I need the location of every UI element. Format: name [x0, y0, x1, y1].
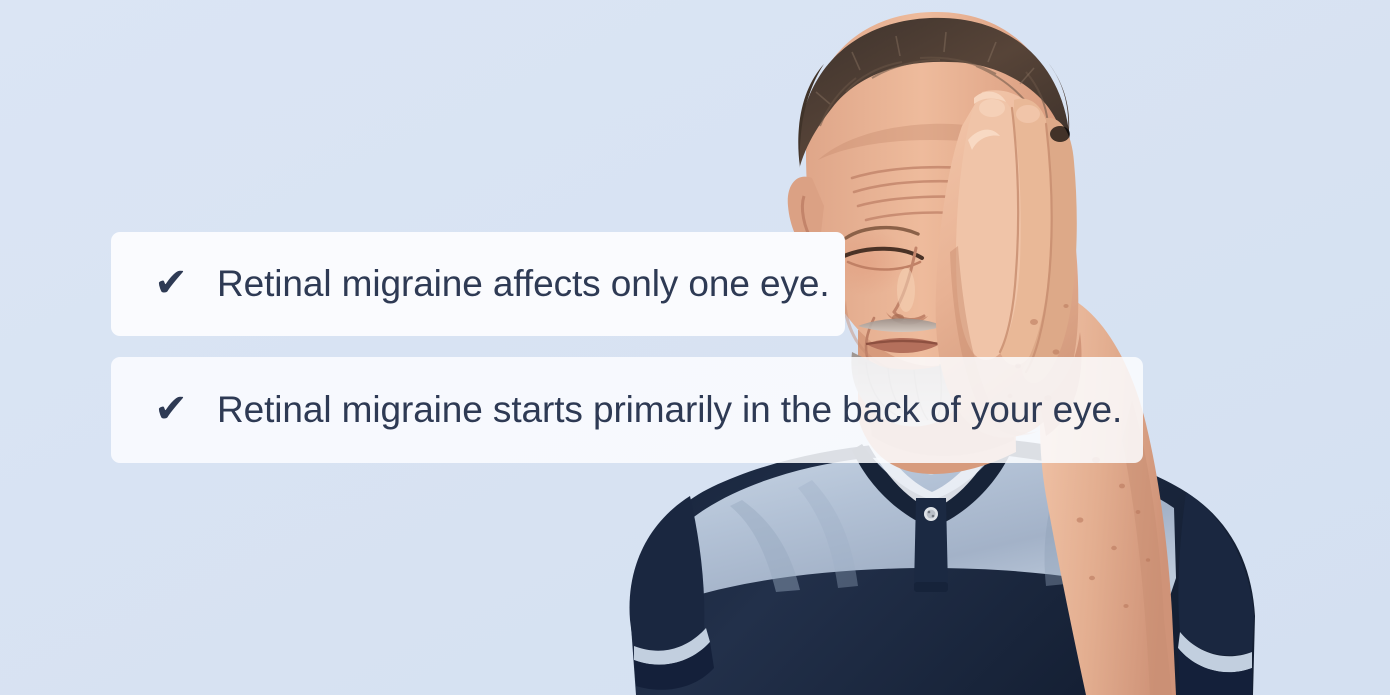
checkmark-icon: ✔ — [149, 389, 193, 429]
fact-card-2-text: Retinal migraine starts primarily in the… — [217, 390, 1122, 431]
infographic-canvas: ✔ Retinal migraine affects only one eye.… — [0, 0, 1390, 695]
fact-card-2: ✔ Retinal migraine starts primarily in t… — [111, 357, 1143, 463]
fact-card-1: ✔ Retinal migraine affects only one eye. — [111, 232, 845, 336]
checkmark-icon: ✔ — [149, 263, 193, 303]
fact-card-1-text: Retinal migraine affects only one eye. — [217, 264, 830, 305]
subject-photo — [0, 0, 1390, 695]
